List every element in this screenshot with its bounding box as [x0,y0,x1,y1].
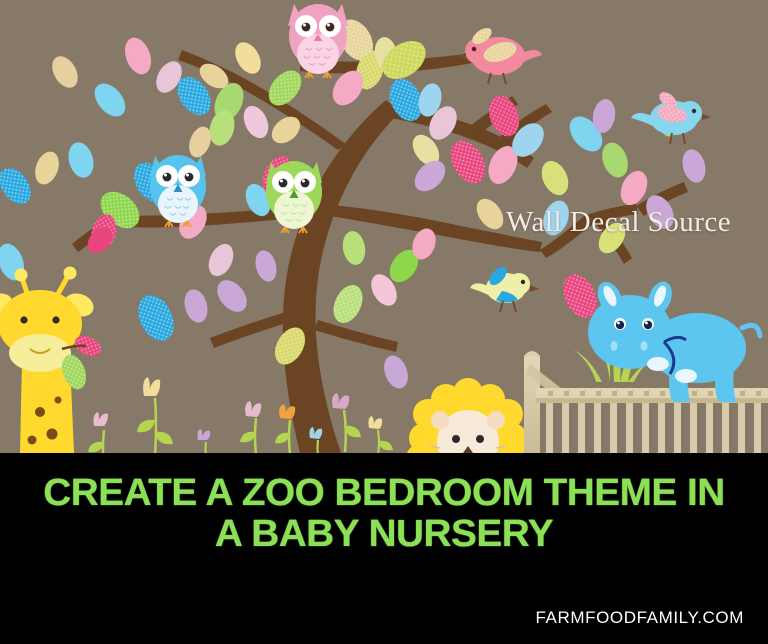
caption-line-2: A BABY NURSERY [0,514,768,555]
image-card: Wall Decal Source CREATE A ZOO BEDROOM T… [0,0,768,644]
caption-line-1: CREATE A ZOO BEDROOM THEME IN [43,472,724,514]
caption-heading: CREATE A ZOO BEDROOM THEME IN A BABY NUR… [0,473,768,554]
caption-bar: CREATE A ZOO BEDROOM THEME IN A BABY NUR… [0,453,768,644]
site-attribution: FARMFOODFAMILY.COM [535,608,744,628]
nursery-wall-decal-photo: Wall Decal Source [0,0,768,453]
watermark-text: Wall Decal Source [506,206,766,239]
